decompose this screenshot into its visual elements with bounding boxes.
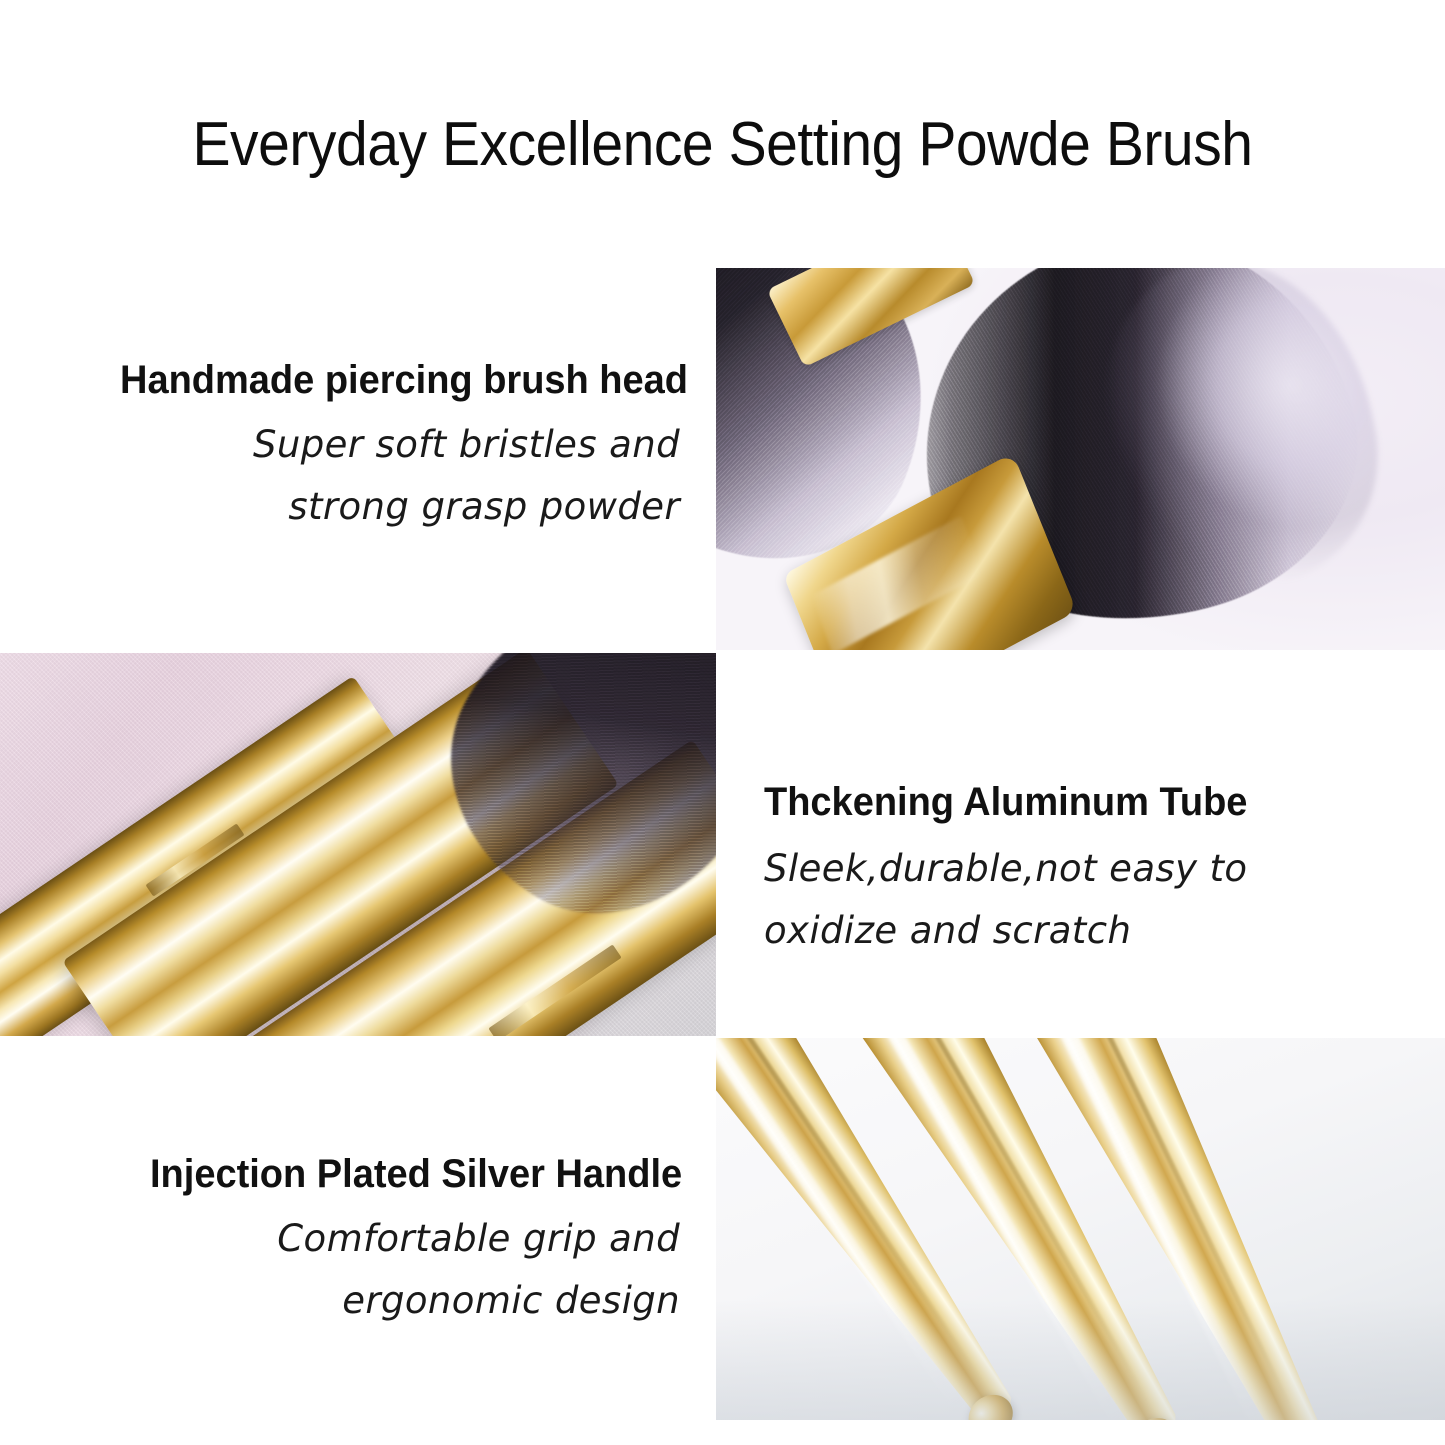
feature-subtitle-injection-plated-silver-handle: Comfortable grip and ergonomic design	[120, 1208, 680, 1332]
photo-aluminum-tubes	[0, 653, 716, 1036]
feature-subtitle-line: Comfortable grip and	[120, 1208, 680, 1270]
infographic-page: Everyday Excellence Setting Powde Brush …	[0, 0, 1445, 1445]
feature-subtitle-line: Super soft bristles and	[120, 414, 680, 476]
photo-brush-heads	[716, 268, 1445, 650]
feature-subtitle-line: Sleek,durable,not easy to	[764, 838, 1324, 900]
feature-subtitle-thickening-aluminum-tube: Sleek,durable,not easy to oxidize and sc…	[764, 838, 1324, 962]
feature-heading-handmade-brush-head: Handmade piercing brush head	[120, 356, 688, 404]
feature-heading-thickening-aluminum-tube: Thckening Aluminum Tube	[764, 778, 1247, 826]
feature-heading-injection-plated-silver-handle: Injection Plated Silver Handle	[150, 1150, 682, 1198]
panel-bottom-shadow	[716, 1300, 1445, 1420]
photo-brush-handles	[716, 1038, 1445, 1420]
page-title: Everyday Excellence Setting Powde Brush	[58, 108, 1387, 182]
feature-subtitle-handmade-brush-head: Super soft bristles and strong grasp pow…	[120, 414, 680, 538]
feature-subtitle-line: oxidize and scratch	[764, 900, 1324, 962]
feature-subtitle-line: ergonomic design	[120, 1270, 680, 1332]
feature-subtitle-line: strong grasp powder	[120, 476, 680, 538]
